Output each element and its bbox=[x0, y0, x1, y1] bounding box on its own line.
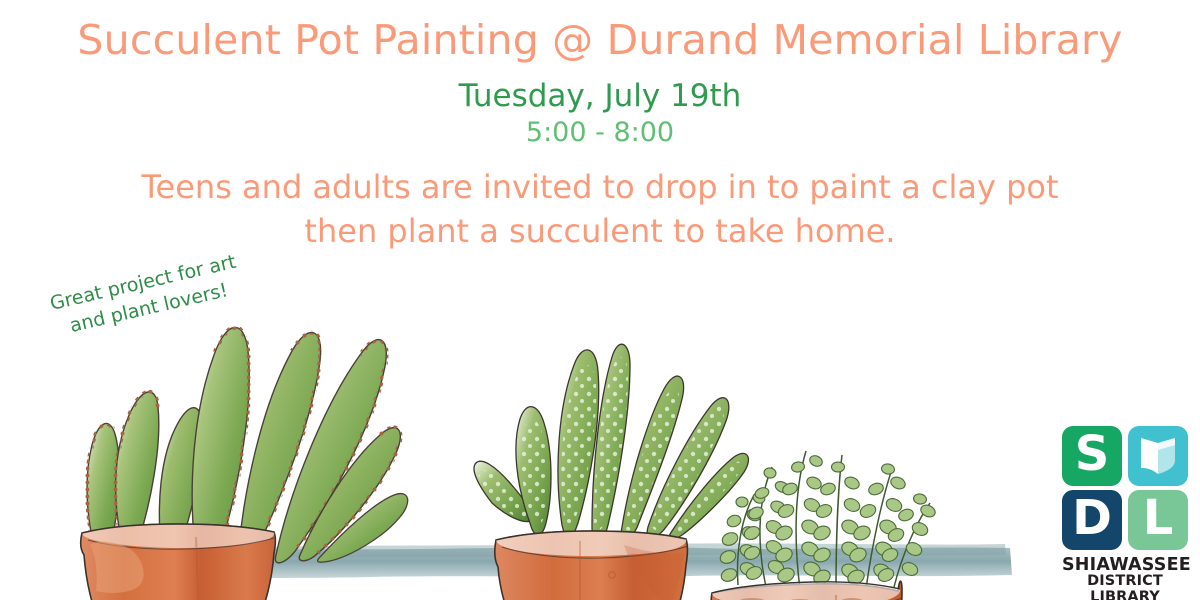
logo-wordmark-line-2: DISTRICT LIBRARY bbox=[1062, 574, 1188, 600]
logo-letter-s: S bbox=[1075, 430, 1110, 478]
description-line-1: Teens and adults are invited to drop in … bbox=[60, 165, 1140, 209]
logo-letter-d: D bbox=[1072, 494, 1112, 542]
logo-letter-l: L bbox=[1143, 494, 1174, 542]
logo-wordmark-line-1: SHIAWASSEE bbox=[1062, 556, 1188, 574]
logo-tile-d: D bbox=[1062, 490, 1122, 550]
flyer-canvas: Succulent Pot Painting @ Durand Memorial… bbox=[0, 0, 1200, 600]
description-line-2: then plant a succulent to take home. bbox=[60, 209, 1140, 253]
event-description: Teens and adults are invited to drop in … bbox=[60, 165, 1140, 253]
logo-tiles: S D L bbox=[1062, 426, 1188, 550]
page-title: Succulent Pot Painting @ Durand Memorial… bbox=[0, 16, 1200, 64]
logo-tile-l: L bbox=[1128, 490, 1188, 550]
logo-wordmark: SHIAWASSEE DISTRICT LIBRARY bbox=[1062, 556, 1188, 600]
logo-tile-s: S bbox=[1062, 426, 1122, 486]
succulent-illustration bbox=[0, 255, 1200, 600]
library-logo[interactable]: S D L SHIAWASSEE DISTRICT LIBRARY bbox=[1062, 426, 1188, 592]
logo-tile-book bbox=[1128, 426, 1188, 486]
pot-right bbox=[711, 451, 937, 600]
open-book-icon bbox=[1136, 434, 1180, 478]
event-date: Tuesday, July 19th bbox=[0, 78, 1200, 114]
pot-center-leaves bbox=[474, 344, 748, 540]
event-time: 5:00 - 8:00 bbox=[0, 117, 1200, 148]
